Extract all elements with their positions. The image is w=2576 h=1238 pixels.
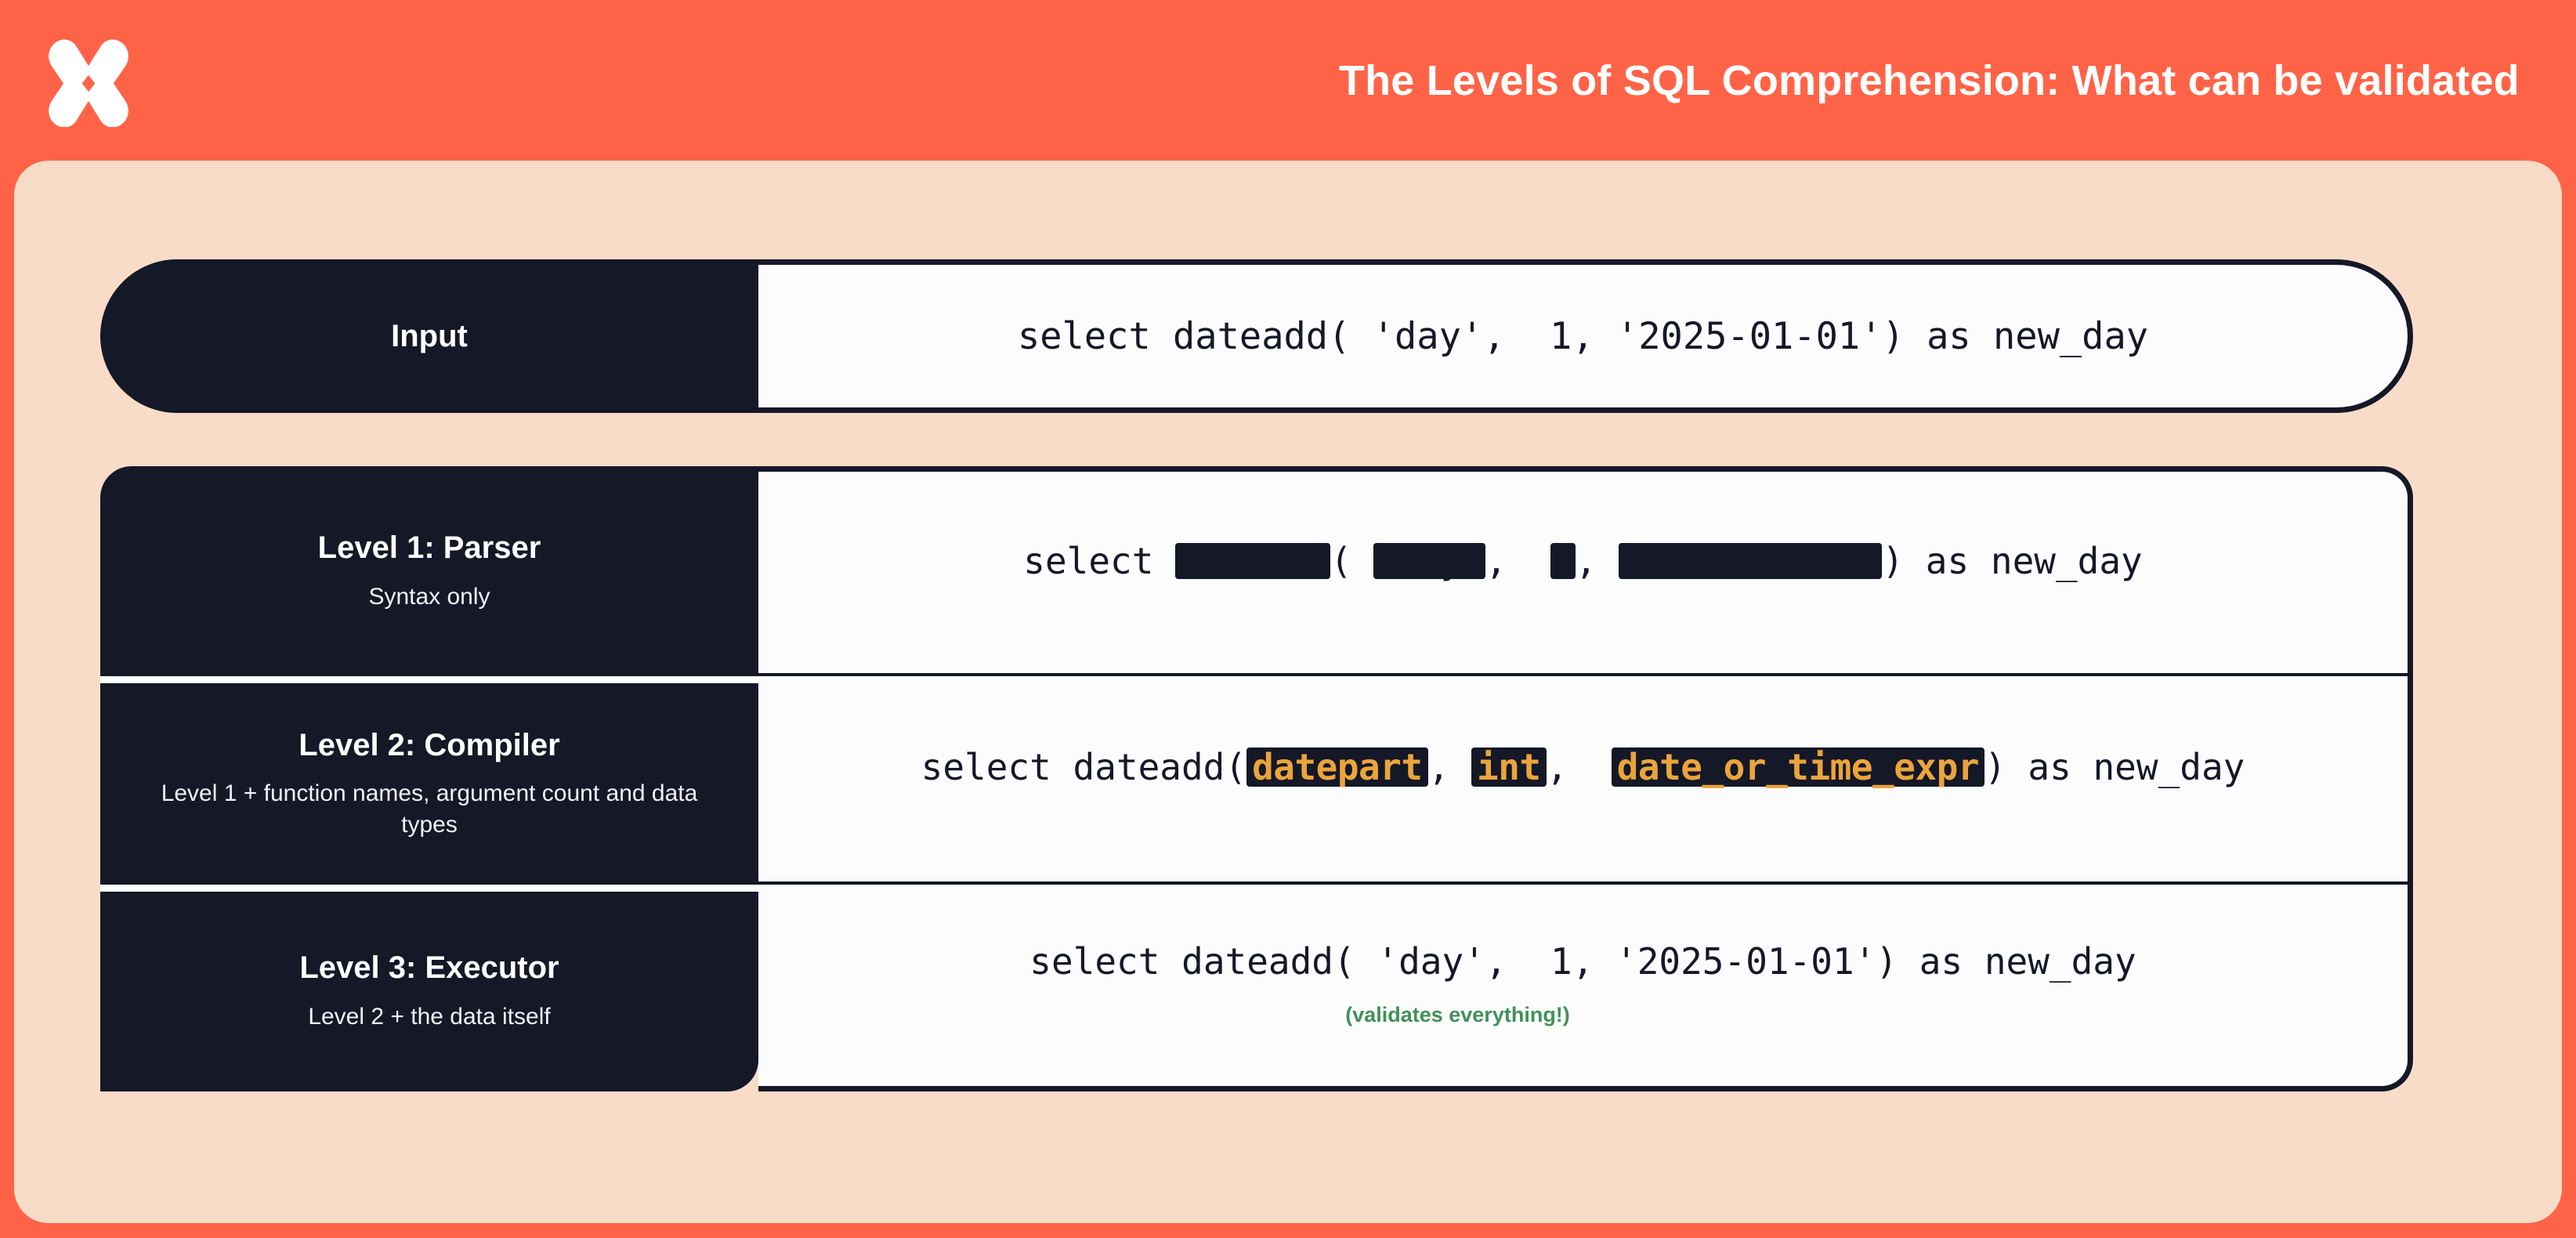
code-redacted-token: 1: [1550, 543, 1576, 579]
level-code-text: select dateadd(datepart, int, date_or_ti…: [921, 748, 2245, 787]
code-plain: ,: [1485, 540, 1550, 582]
code-wrap: select dateadd( 'day', 1, '2025-01-01') …: [758, 943, 2408, 1027]
level-row: Level 2: Compiler Level 1 + function nam…: [100, 676, 2413, 885]
code-redacted-token: '2025-01-01': [1619, 543, 1882, 579]
code-plain: select: [1023, 540, 1175, 582]
code-plain: select dateadd(: [921, 746, 1246, 788]
code-plain: (: [1330, 540, 1373, 582]
code-plain: ) as new_day: [1882, 540, 2142, 582]
code-plain: ) as new_day: [1984, 746, 2245, 788]
level-code-text: select dateadd( 'day', 1, '2025-01-01') …: [1023, 543, 2143, 579]
input-label-text: Input: [391, 319, 468, 354]
level-code-text: select dateadd( 'day', 1, '2025-01-01') …: [1029, 943, 2136, 979]
level-title: Level 3: Executor: [299, 950, 559, 986]
level-label-cell: Level 3: Executor Level 2 + the data its…: [100, 885, 758, 1091]
level-subtitle: Syntax only: [368, 581, 490, 613]
level-label-cell: Level 1: Parser Syntax only: [100, 466, 758, 676]
level-title: Level 1: Parser: [318, 530, 541, 566]
x-mark-logo-icon: [42, 34, 135, 127]
level-code-cell: select dateadd( 'day', 1, '2025-01-01') …: [758, 885, 2413, 1091]
code-plain: ,: [1547, 746, 1612, 788]
header-bar: The Levels of SQL Comprehension: What ca…: [0, 0, 2576, 161]
infographic-page: The Levels of SQL Comprehension: What ca…: [0, 0, 2576, 1238]
level-row: Level 3: Executor Level 2 + the data its…: [100, 885, 2413, 1091]
code-plain: ,: [1428, 746, 1471, 788]
code-wrap: select dateadd(datepart, int, date_or_ti…: [758, 748, 2408, 810]
code-redacted-token: 'day': [1373, 543, 1485, 579]
level-label-cell: Level 2: Compiler Level 1 + function nam…: [100, 676, 758, 885]
input-code-text: select dateadd( 'day', 1, '2025-01-01') …: [1018, 318, 2148, 355]
level-note: (validates everything!): [1345, 1003, 1570, 1027]
levels-block: Level 1: Parser Syntax only select datea…: [100, 466, 2413, 1091]
code-type-token: date_or_time_expr: [1612, 748, 1984, 787]
input-label-cell: Input: [100, 259, 758, 413]
page-title: The Levels of SQL Comprehension: What ca…: [1339, 56, 2527, 105]
code-plain: select dateadd( 'day', 1, '2025-01-01') …: [1029, 940, 2136, 983]
level-subtitle: Level 2 + the data itself: [308, 1001, 550, 1033]
input-row: Input select dateadd( 'day', 1, '2025-01…: [100, 259, 2413, 413]
level-subtitle: Level 1 + function names, argument count…: [155, 778, 704, 840]
code-type-token: datepart: [1246, 748, 1428, 787]
code-wrap: select dateadd( 'day', 1, '2025-01-01') …: [758, 543, 2408, 603]
input-code-cell: select dateadd( 'day', 1, '2025-01-01') …: [758, 259, 2413, 413]
level-code-cell: select dateadd( 'day', 1, '2025-01-01') …: [758, 466, 2413, 676]
code-plain: ,: [1576, 540, 1619, 582]
level-code-cell: select dateadd(datepart, int, date_or_ti…: [758, 676, 2413, 885]
code-type-token: int: [1471, 748, 1547, 787]
level-title: Level 2: Compiler: [298, 728, 559, 763]
card-shell: The Levels of SQL Comprehension: What ca…: [0, 0, 2576, 1238]
body-panel: Input select dateadd( 'day', 1, '2025-01…: [14, 161, 2562, 1223]
code-redacted-token: dateadd: [1175, 543, 1330, 579]
level-row: Level 1: Parser Syntax only select datea…: [100, 466, 2413, 676]
